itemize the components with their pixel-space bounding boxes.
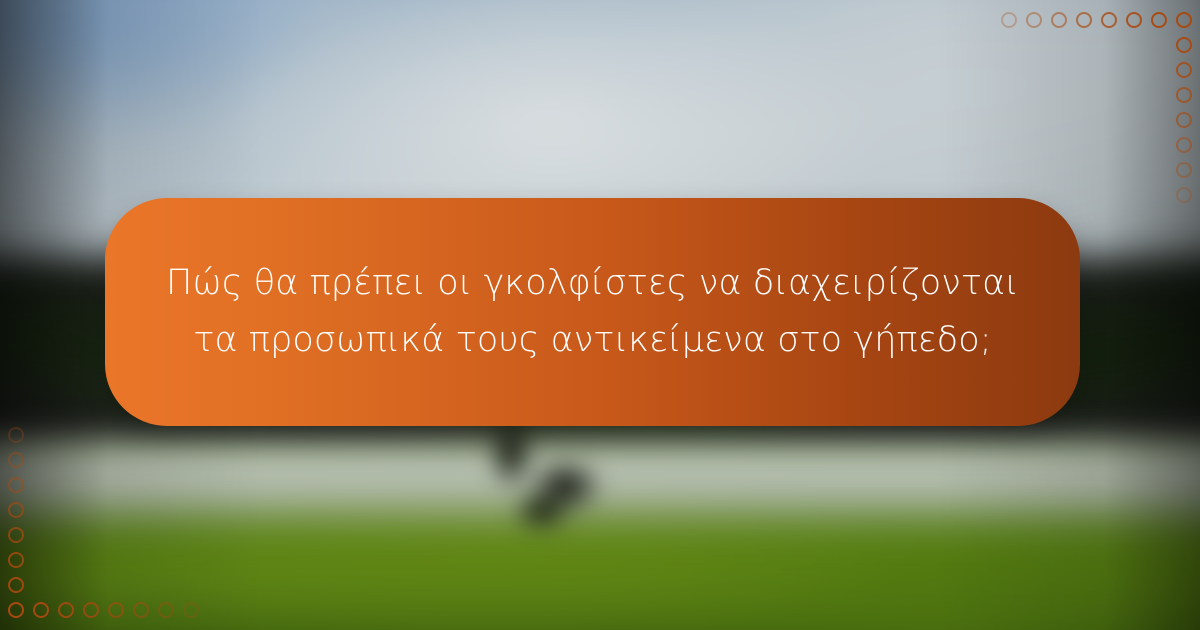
- decorative-ring: [1076, 12, 1092, 28]
- decorative-ring: [1176, 187, 1192, 203]
- decorative-ring: [1151, 12, 1167, 28]
- decorative-ring: [8, 602, 24, 618]
- decorative-ring: [8, 527, 24, 543]
- decorative-ring: [8, 452, 24, 468]
- decorative-ring: [8, 577, 24, 593]
- decorative-ring: [8, 502, 24, 518]
- decorative-ring: [33, 602, 49, 618]
- quote-graphic: Πώς θα πρέπει οι γκολφίστες να διαχειρίζ…: [0, 0, 1200, 630]
- decorative-ring: [1176, 62, 1192, 78]
- decorative-ring: [1176, 87, 1192, 103]
- decorative-ring: [58, 602, 74, 618]
- decorative-ring: [1176, 37, 1192, 53]
- decorative-ring: [8, 552, 24, 568]
- decorative-ring: [1026, 12, 1042, 28]
- decorative-ring: [158, 602, 174, 618]
- decorative-ring: [183, 602, 199, 618]
- decorative-ring: [1126, 12, 1142, 28]
- decorative-ring: [108, 602, 124, 618]
- decorative-ring: [1001, 12, 1017, 28]
- decorative-ring: [83, 602, 99, 618]
- decorative-ring: [8, 427, 24, 443]
- decorative-ring: [1101, 12, 1117, 28]
- decorative-ring: [1051, 12, 1067, 28]
- decorative-ring: [1176, 12, 1192, 28]
- decorative-dots-bottom-left: [0, 410, 220, 630]
- quote-text: Πώς θα πρέπει οι γκολφίστες να διαχειρίζ…: [106, 255, 1079, 369]
- decorative-ring: [133, 602, 149, 618]
- decorative-ring: [1176, 137, 1192, 153]
- decorative-ring: [1176, 162, 1192, 178]
- decorative-ring: [8, 477, 24, 493]
- decorative-ring: [1176, 112, 1192, 128]
- decorative-dots-top-right: [980, 0, 1200, 220]
- quote-card: Πώς θα πρέπει οι γκολφίστες να διαχειρίζ…: [105, 198, 1080, 426]
